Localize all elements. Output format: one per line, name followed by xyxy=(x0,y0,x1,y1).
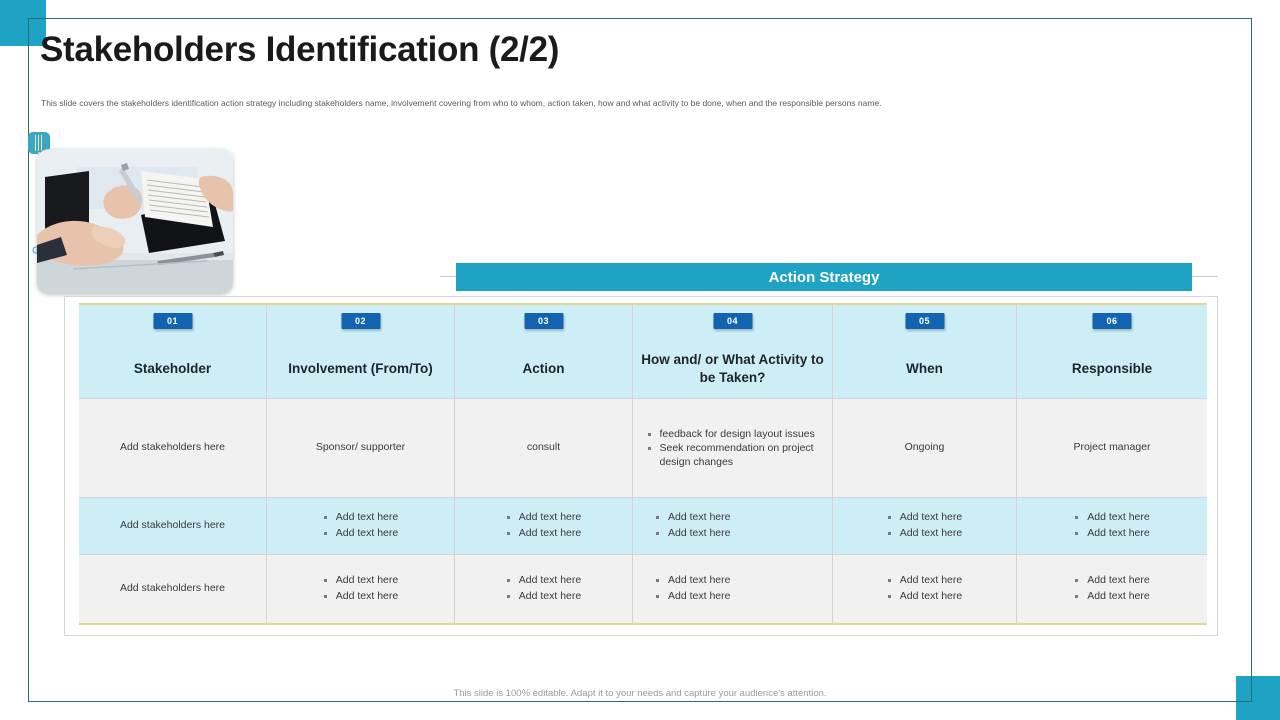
cell-activity: Add text here Add text here xyxy=(633,497,833,554)
table-header-row: 01 Stakeholder 02 Involvement (From/To) … xyxy=(79,305,1207,398)
bullet-list: Add text here Add text here xyxy=(655,510,730,542)
cell-action: Add text here Add text here xyxy=(455,554,633,623)
column-header-label: How and/ or What Activity to be Taken? xyxy=(633,351,832,386)
column-header-action: 03 Action xyxy=(455,305,633,398)
cell-stakeholder: Add stakeholders here xyxy=(79,398,267,497)
column-number-badge: 03 xyxy=(524,313,563,329)
cell-value: consult xyxy=(527,440,560,456)
bullet-list: Add text here Add text here xyxy=(1074,573,1149,605)
cell-value: Add stakeholders here xyxy=(120,581,225,597)
bullet-item: Add text here xyxy=(655,510,730,526)
cell-responsible: Add text here Add text here xyxy=(1017,497,1207,554)
bullet-item: Add text here xyxy=(323,573,398,589)
cell-responsible: Project manager xyxy=(1017,398,1207,497)
bullet-item: Add text here xyxy=(323,510,398,526)
bullet-list: Add text here Add text here xyxy=(506,510,581,542)
cell-when: Add text here Add text here xyxy=(833,497,1017,554)
banner-label: Action Strategy xyxy=(769,269,880,286)
bullet-item: Add text here xyxy=(1074,573,1149,589)
table-row: Add stakeholders here Add text here Add … xyxy=(79,554,1207,623)
column-header-responsible: 06 Responsible xyxy=(1017,305,1207,398)
cell-value: Project manager xyxy=(1073,440,1150,456)
photo-illustration xyxy=(37,149,233,294)
column-header-label: Responsible xyxy=(1072,360,1152,377)
page-title: Stakeholders Identification (2/2) xyxy=(40,30,559,70)
cell-when: Ongoing xyxy=(833,398,1017,497)
bullet-item: Add text here xyxy=(887,573,962,589)
bullet-list: Add text here Add text here xyxy=(887,573,962,605)
cell-activity: Add text here Add text here xyxy=(633,554,833,623)
cell-value: Add stakeholders here xyxy=(120,440,225,456)
bullet-item: Add text here xyxy=(506,589,581,605)
bullet-item: Add text here xyxy=(887,510,962,526)
column-header-stakeholder: 01 Stakeholder xyxy=(79,305,267,398)
bullet-list: Add text here Add text here xyxy=(506,573,581,605)
bullet-item: Add text here xyxy=(1074,510,1149,526)
column-header-label: Involvement (From/To) xyxy=(288,360,433,377)
cell-involvement: Add text here Add text here xyxy=(267,497,455,554)
bullet-item: Add text here xyxy=(506,526,581,542)
bullet-item: Add text here xyxy=(1074,526,1149,542)
bullet-list: Add text here Add text here xyxy=(1074,510,1149,542)
cell-value: Add stakeholders here xyxy=(120,518,225,534)
cell-activity: feedback for design layout issues Seek r… xyxy=(633,398,833,497)
column-number-badge: 06 xyxy=(1092,313,1131,329)
cell-when: Add text here Add text here xyxy=(833,554,1017,623)
cell-stakeholder: Add stakeholders here xyxy=(79,554,267,623)
column-number-badge: 05 xyxy=(905,313,944,329)
cell-action: Add text here Add text here xyxy=(455,497,633,554)
cell-stakeholder: Add stakeholders here xyxy=(79,497,267,554)
bullet-list: Add text here Add text here xyxy=(323,510,398,542)
column-header-when: 05 When xyxy=(833,305,1017,398)
cell-value: Sponsor/ supporter xyxy=(316,440,405,456)
bullet-list: Add text here Add text here xyxy=(887,510,962,542)
bullet-item: Add text here xyxy=(323,589,398,605)
column-number-badge: 02 xyxy=(341,313,380,329)
bullet-list: Add text here Add text here xyxy=(655,573,730,605)
column-number-badge: 04 xyxy=(713,313,752,329)
header-photo xyxy=(37,149,233,294)
bullet-item: Add text here xyxy=(506,510,581,526)
table-row: Add stakeholders here Sponsor/ supporter… xyxy=(79,398,1207,497)
action-strategy-banner: Action Strategy xyxy=(456,263,1192,291)
bullet-item: feedback for design layout issues xyxy=(647,427,819,441)
bullet-list: feedback for design layout issues Seek r… xyxy=(647,427,819,470)
cell-involvement: Sponsor/ supporter xyxy=(267,398,455,497)
banner-rule-right xyxy=(1192,276,1218,277)
stakeholders-table: 01 Stakeholder 02 Involvement (From/To) … xyxy=(79,303,1207,625)
page-subtitle: This slide covers the stakeholders ident… xyxy=(41,98,1121,109)
bullet-list: Add text here Add text here xyxy=(323,573,398,605)
bullet-item: Add text here xyxy=(1074,589,1149,605)
bullet-item: Add text here xyxy=(655,526,730,542)
bullet-item: Seek recommendation on project design ch… xyxy=(647,441,819,469)
bullet-item: Add text here xyxy=(887,589,962,605)
cell-responsible: Add text here Add text here xyxy=(1017,554,1207,623)
column-header-involvement: 02 Involvement (From/To) xyxy=(267,305,455,398)
column-header-label: Stakeholder xyxy=(134,360,211,377)
bullet-item: Add text here xyxy=(506,573,581,589)
cell-action: consult xyxy=(455,398,633,497)
column-header-activity: 04 How and/ or What Activity to be Taken… xyxy=(633,305,833,398)
slide-footer-note: This slide is 100% editable. Adapt it to… xyxy=(0,688,1280,699)
bullet-item: Add text here xyxy=(887,526,962,542)
column-header-label: When xyxy=(906,360,943,377)
cell-involvement: Add text here Add text here xyxy=(267,554,455,623)
cell-value: Ongoing xyxy=(905,440,945,456)
bullet-item: Add text here xyxy=(655,589,730,605)
bullet-item: Add text here xyxy=(323,526,398,542)
column-number-badge: 01 xyxy=(153,313,192,329)
bullet-item: Add text here xyxy=(655,573,730,589)
column-header-label: Action xyxy=(523,360,565,377)
table-row: Add stakeholders here Add text here Add … xyxy=(79,497,1207,554)
